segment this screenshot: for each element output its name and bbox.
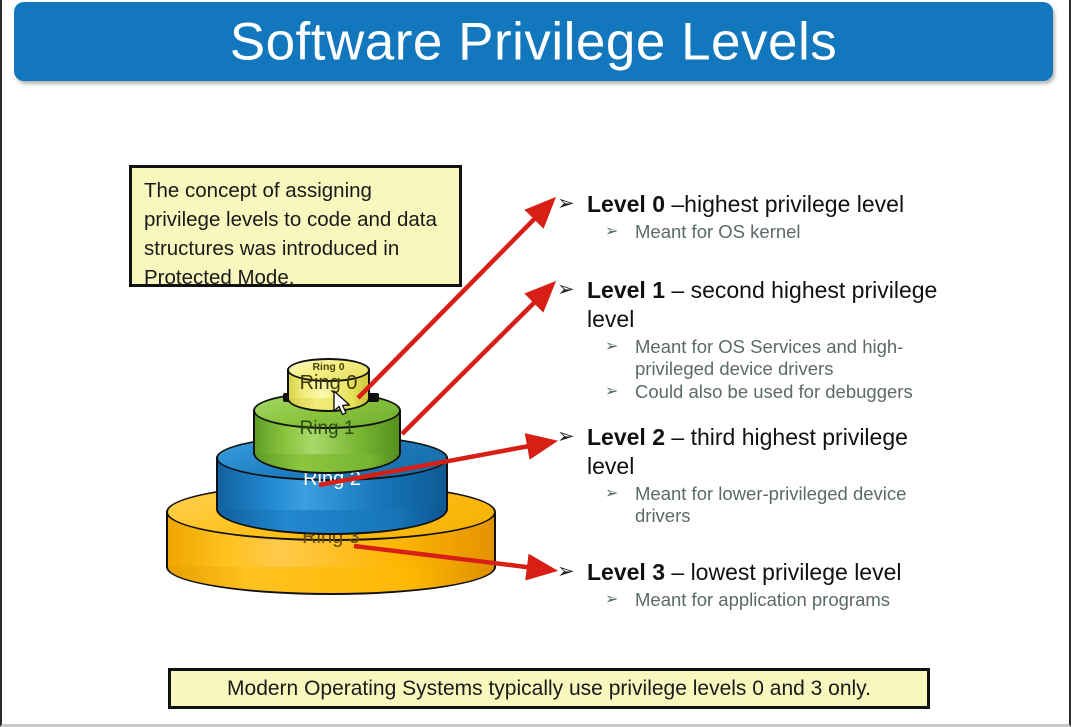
level-0-heading: ➢Level 0 –highest privilege level bbox=[553, 190, 948, 219]
level-1-sub-text-0: Meant for OS Services and high-privilege… bbox=[635, 336, 903, 379]
level-0-sub-text: Meant for OS kernel bbox=[635, 221, 801, 242]
list-item: ➢Could also be used for debuggers bbox=[553, 381, 948, 403]
level-3-sub-text: Meant for application programs bbox=[635, 589, 890, 610]
list-item: ➢Meant for OS Services and high-privileg… bbox=[553, 336, 948, 380]
arrow-bullet-icon: ➢ bbox=[605, 589, 618, 611]
arrow-bullet-icon: ➢ bbox=[605, 336, 618, 358]
level-3-heading: ➢Level 3 – lowest privilege level bbox=[553, 558, 948, 587]
privilege-ring-stack-diagram: Ring 3 Ring 2 Ring 1 Ring 0 Ring 0 bbox=[152, 350, 522, 595]
concept-callout-box: The concept of assigning privilege level… bbox=[129, 165, 462, 287]
page-title: Software Privilege Levels bbox=[14, 15, 1053, 68]
level-1-sub-list: ➢Meant for OS Services and high-privileg… bbox=[553, 336, 948, 403]
arrow-bullet-icon: ➢ bbox=[605, 221, 618, 243]
slide-canvas: Software Privilege Levels The concept of… bbox=[0, 0, 1071, 727]
ring-0-label: Ring 0 bbox=[287, 372, 370, 395]
level-2-name: Level 2 bbox=[587, 424, 665, 450]
level-3-block: ➢Level 3 – lowest privilege level ➢Meant… bbox=[553, 558, 948, 611]
level-0-name: Level 0 bbox=[587, 191, 665, 217]
level-2-sub-list: ➢Meant for lower-privileged device drive… bbox=[553, 483, 948, 527]
level-3-name: Level 3 bbox=[587, 559, 665, 585]
ring-1-label: Ring 1 bbox=[253, 418, 401, 440]
level-3-sub-list: ➢Meant for application programs bbox=[553, 589, 948, 611]
list-item: ➢Meant for OS kernel bbox=[553, 221, 948, 243]
level-0-desc: –highest privilege level bbox=[665, 191, 904, 217]
list-item: ➢Meant for application programs bbox=[553, 589, 948, 611]
arrow-bullet-icon: ➢ bbox=[557, 275, 575, 304]
mouse-cursor-icon bbox=[333, 390, 353, 417]
list-item: ➢Meant for lower-privileged device drive… bbox=[553, 483, 948, 527]
summary-text: Modern Operating Systems typically use p… bbox=[227, 677, 871, 701]
level-0-block: ➢Level 0 –highest privilege level ➢Meant… bbox=[553, 190, 948, 243]
level-1-sub-text-1: Could also be used for debuggers bbox=[635, 381, 913, 402]
level-3-desc: – lowest privilege level bbox=[665, 559, 902, 585]
level-1-name: Level 1 bbox=[587, 277, 665, 303]
arrow-bullet-icon: ➢ bbox=[605, 381, 618, 403]
arrow-bullet-icon: ➢ bbox=[557, 557, 575, 586]
level-2-block: ➢Level 2 – third highest privilege level… bbox=[553, 423, 948, 527]
level-2-heading: ➢Level 2 – third highest privilege level bbox=[553, 423, 948, 481]
arrow-bullet-icon: ➢ bbox=[605, 483, 618, 505]
title-banner: Software Privilege Levels bbox=[14, 2, 1053, 81]
level-1-heading: ➢Level 1 – second highest privilege leve… bbox=[553, 276, 948, 334]
summary-callout-box: Modern Operating Systems typically use p… bbox=[168, 668, 930, 709]
level-0-sub-list: ➢Meant for OS kernel bbox=[553, 221, 948, 243]
level-2-sub-text: Meant for lower-privileged device driver… bbox=[635, 483, 906, 526]
level-1-block: ➢Level 1 – second highest privilege leve… bbox=[553, 276, 948, 403]
arrow-bullet-icon: ➢ bbox=[557, 189, 575, 218]
arrow-bullet-icon: ➢ bbox=[557, 422, 575, 451]
ring-0-cylinder[interactable]: Ring 0 Ring 0 bbox=[287, 358, 370, 412]
